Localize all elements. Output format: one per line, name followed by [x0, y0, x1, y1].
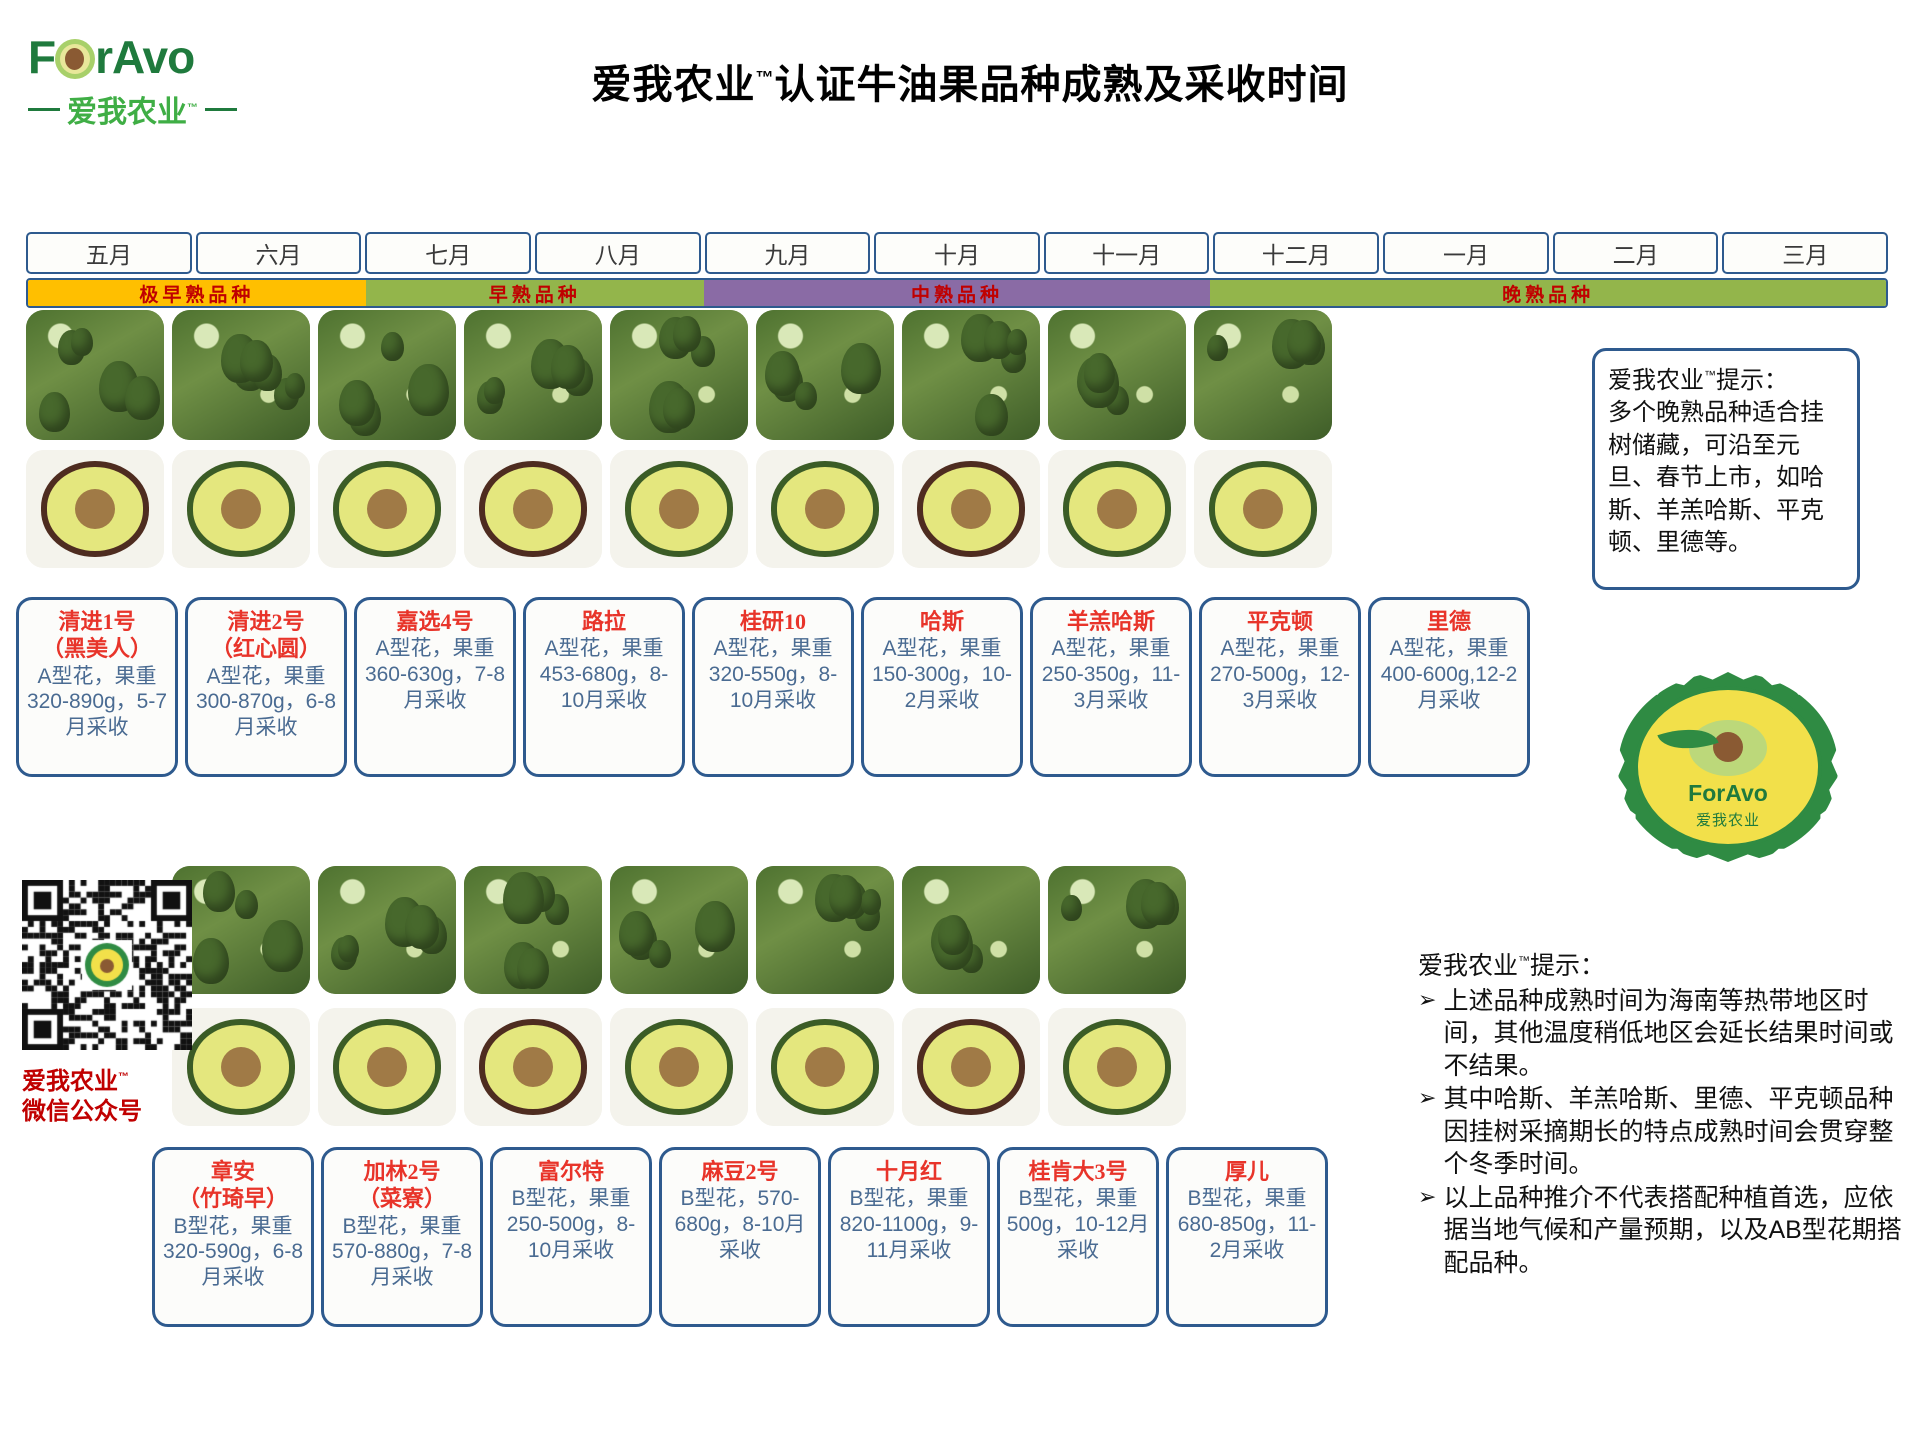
variety-name: 羊羔哈斯: [1039, 609, 1183, 634]
row-a-variety-cards: 清进1号（黑美人）A型花，果重320-890g，5-7月采收清进2号（红心圆）A…: [16, 597, 1530, 777]
avocado-tree-photo: [1048, 310, 1186, 440]
avocado-cut-fruit-photo: [610, 450, 748, 568]
variety-description: A型花，果重300-870g，6-8月采收: [194, 664, 338, 741]
variety-name: 里德: [1377, 609, 1521, 634]
month-cell-8: 十二月: [1213, 232, 1379, 274]
variety-name: 加林2号: [330, 1159, 474, 1184]
avocado-tree-photo: [756, 310, 894, 440]
variety-description: A型花，果重360-630g，7-8月采收: [363, 636, 507, 713]
season-band-3: 中熟品种: [704, 280, 1211, 306]
logo-chinese-name: 爱我农业™: [67, 87, 198, 131]
row-b-variety-cards: 章安（竹琦早）B型花，果重320-590g，6-8月采收加林2号（菜寮）B型花，…: [152, 1147, 1328, 1327]
row-a-cut-photo-strip: [26, 450, 1332, 568]
variety-name: 十月红: [837, 1159, 981, 1184]
variety-name: 桂肯大3号: [1006, 1159, 1150, 1184]
avocado-cut-fruit-photo: [1048, 450, 1186, 568]
variety-card[interactable]: 加林2号（菜寮）B型花，果重570-880g，7-8月采收: [321, 1147, 483, 1327]
tip-box-late-varieties: 爱我农业™提示： 多个晚熟品种适合挂树储藏，可沿至元旦、春节上市，如哈斯、羊羔哈…: [1592, 348, 1860, 590]
row-b-cut-photo-strip: [172, 1008, 1186, 1126]
avocado-tree-photo: [172, 866, 310, 994]
variety-description: A型花，果重270-500g，12-3月采收: [1208, 636, 1352, 713]
variety-card[interactable]: 十月红B型花，果重820-1100g，9-11月采收: [828, 1147, 990, 1327]
bottom-tips-block: 爱我农业™提示： ➢上述品种成熟时间为海南等热带地区时间，其他温度稍低地区会延长…: [1418, 950, 1916, 1280]
tip-bullet-text: 其中哈斯、羊羔哈斯、里德、平克顿品种因挂树采摘期长的特点成熟时间会贯穿整个冬季时…: [1443, 1083, 1916, 1181]
variety-description: A型花，果重400-600g,12-2月采收: [1377, 636, 1521, 713]
variety-name: 清进1号: [25, 609, 169, 634]
variety-card[interactable]: 哈斯A型花，果重150-300g，10-2月采收: [861, 597, 1023, 777]
logo-letters-rest: rAvo: [95, 31, 194, 83]
tip-box-body: 多个晚熟品种适合挂树储藏，可沿至元旦、春节上市，如哈斯、羊羔哈斯、平克顿、里德等…: [1608, 397, 1844, 559]
row-b-tree-photo-strip: [172, 866, 1186, 994]
month-cell-7: 十一月: [1044, 232, 1210, 274]
qr-caption: 爱我农业™ 微信公众号: [22, 1067, 192, 1127]
variety-alias: （菜寮）: [330, 1186, 474, 1211]
wechat-qr-block: 爱我农业™ 微信公众号: [22, 880, 192, 1127]
variety-name: 章安: [161, 1159, 305, 1184]
month-cell-4: 八月: [535, 232, 701, 274]
avocado-tree-photo: [464, 866, 602, 994]
variety-description: A型花，果重250-350g，11-3月采收: [1039, 636, 1183, 713]
variety-alias: （黑美人）: [25, 636, 169, 661]
avocado-tree-photo: [610, 866, 748, 994]
variety-card[interactable]: 路拉A型花，果重453-680g，8-10月采收: [523, 597, 685, 777]
variety-name: 嘉选4号: [363, 609, 507, 634]
season-band-row: 极早熟品种早熟品种中熟品种晚熟品种: [26, 278, 1888, 308]
bullet-arrow-icon: ➢: [1418, 1083, 1436, 1181]
tip-bullet-item: ➢以上品种推介不代表搭配种植首选，应依据当地气候和产量预期，以及AB型花期搭配品…: [1418, 1182, 1916, 1280]
variety-name: 桂研10: [701, 609, 845, 634]
month-cell-10: 二月: [1553, 232, 1719, 274]
avocado-tree-photo: [26, 310, 164, 440]
avocado-tree-photo: [902, 310, 1040, 440]
bottom-tips-heading: 爱我农业™提示：: [1418, 950, 1916, 983]
variety-description: B型花，果重820-1100g，9-11月采收: [837, 1186, 981, 1263]
badge-inner: ForAvo 爱我农业: [1634, 686, 1822, 848]
avocado-tree-photo: [1048, 866, 1186, 994]
month-cell-1: 五月: [26, 232, 192, 274]
variety-name: 平克顿: [1208, 609, 1352, 634]
variety-name: 哈斯: [870, 609, 1014, 634]
tip-bullet-item: ➢上述品种成熟时间为海南等热带地区时间，其他温度稍低地区会延长结果时间或不结果。: [1418, 985, 1916, 1083]
avocado-tree-photo: [172, 310, 310, 440]
tip-bullet-text: 以上品种推介不代表搭配种植首选，应依据当地气候和产量预期，以及AB型花期搭配品种…: [1443, 1182, 1916, 1280]
tip-box-heading: 爱我农业™提示：: [1608, 365, 1844, 397]
brand-logo: FrAvo 爱我农业™: [28, 34, 278, 144]
season-band-4: 晚熟品种: [1210, 280, 1886, 306]
variety-description: A型花，果重150-300g，10-2月采收: [870, 636, 1014, 713]
tip-bullet-item: ➢其中哈斯、羊羔哈斯、里德、平克顿品种因挂树采摘期长的特点成熟时间会贯穿整个冬季…: [1418, 1083, 1916, 1181]
variety-description: B型花，果重500g，10-12月采收: [1006, 1186, 1150, 1263]
bottom-tips-list: ➢上述品种成熟时间为海南等热带地区时间，其他温度稍低地区会延长结果时间或不结果。…: [1418, 985, 1916, 1280]
variety-card[interactable]: 里德A型花，果重400-600g,12-2月采收: [1368, 597, 1530, 777]
variety-name: 富尔特: [499, 1159, 643, 1184]
month-cell-5: 九月: [705, 232, 871, 274]
badge-subtitle: 爱我农业: [1696, 809, 1760, 830]
avocado-cut-fruit-photo: [1048, 1008, 1186, 1126]
variety-card[interactable]: 桂研10A型花，果重320-550g，8-10月采收: [692, 597, 854, 777]
bullet-arrow-icon: ➢: [1418, 985, 1436, 1083]
variety-name: 清进2号: [194, 609, 338, 634]
variety-card[interactable]: 嘉选4号A型花，果重360-630g，7-8月采收: [354, 597, 516, 777]
logo-rule-right: [205, 108, 237, 111]
avocado-cut-fruit-photo: [318, 1008, 456, 1126]
avocado-tree-photo: [318, 866, 456, 994]
variety-description: B型花，570-680g，8-10月采收: [668, 1186, 812, 1263]
variety-description: B型花，果重320-590g，6-8月采收: [161, 1214, 305, 1291]
badge-name: ForAvo: [1688, 780, 1768, 807]
page-title: 爱我农业™认证牛油果品种成熟及采收时间: [420, 52, 1520, 110]
avocado-tree-photo: [902, 866, 1040, 994]
variety-card[interactable]: 章安（竹琦早）B型花，果重320-590g，6-8月采收: [152, 1147, 314, 1327]
variety-name: 麻豆2号: [668, 1159, 812, 1184]
badge-avocado-pit-icon: [1713, 732, 1743, 762]
avocado-cut-fruit-photo: [172, 1008, 310, 1126]
month-header-row: 五月六月七月八月九月十月十一月十二月一月二月三月: [26, 232, 1888, 274]
tip-bullet-text: 上述品种成熟时间为海南等热带地区时间，其他温度稍低地区会延长结果时间或不结果。: [1443, 985, 1916, 1083]
avocado-cut-fruit-photo: [610, 1008, 748, 1126]
variety-card[interactable]: 麻豆2号B型花，570-680g，8-10月采收: [659, 1147, 821, 1327]
timeline: 五月六月七月八月九月十月十一月十二月一月二月三月 极早熟品种早熟品种中熟品种晚熟…: [26, 232, 1888, 308]
variety-card[interactable]: 桂肯大3号B型花，果重500g，10-12月采收: [997, 1147, 1159, 1327]
logo-subtitle: 爱我农业™: [28, 87, 278, 131]
avocado-tree-photo: [756, 866, 894, 994]
avocado-cut-fruit-photo: [318, 450, 456, 568]
avocado-o-icon: [55, 39, 95, 79]
avocado-tree-photo: [1194, 310, 1332, 440]
variety-card[interactable]: 清进1号（黑美人）A型花，果重320-890g，5-7月采收: [16, 597, 178, 777]
avocado-tree-photo: [464, 310, 602, 440]
avocado-cut-fruit-photo: [1194, 450, 1332, 568]
avocado-cut-fruit-photo: [756, 1008, 894, 1126]
logo-wordmark: FrAvo: [28, 34, 278, 80]
avocado-tree-photo: [318, 310, 456, 440]
variety-description: B型花，果重680-850g，11-2月采收: [1175, 1186, 1319, 1263]
avocado-cut-fruit-photo: [464, 1008, 602, 1126]
variety-description: A型花，果重320-890g，5-7月采收: [25, 664, 169, 741]
variety-description: B型花，果重250-500g，8-10月采收: [499, 1186, 643, 1263]
month-cell-9: 一月: [1383, 232, 1549, 274]
avocado-tree-photo: [610, 310, 748, 440]
variety-description: A型花，果重320-550g，8-10月采收: [701, 636, 845, 713]
variety-card[interactable]: 清进2号（红心圆）A型花，果重300-870g，6-8月采收: [185, 597, 347, 777]
avocado-cut-fruit-photo: [26, 450, 164, 568]
variety-name: 厚儿: [1175, 1159, 1319, 1184]
variety-card[interactable]: 厚儿B型花，果重680-850g，11-2月采收: [1166, 1147, 1328, 1327]
month-cell-11: 三月: [1722, 232, 1888, 274]
variety-card[interactable]: 富尔特B型花，果重250-500g，8-10月采收: [490, 1147, 652, 1327]
season-band-2: 早熟品种: [366, 280, 704, 306]
month-cell-3: 七月: [365, 232, 531, 274]
avocado-cut-fruit-photo: [902, 450, 1040, 568]
foravo-certification-badge: ForAvo 爱我农业: [1618, 672, 1838, 862]
variety-description: A型花，果重453-680g，8-10月采收: [532, 636, 676, 713]
variety-card[interactable]: 羊羔哈斯A型花，果重250-350g，11-3月采收: [1030, 597, 1192, 777]
avocado-cut-fruit-photo: [902, 1008, 1040, 1126]
logo-rule-left: [28, 108, 60, 111]
variety-name: 路拉: [532, 609, 676, 634]
qr-code-image: [22, 880, 192, 1050]
logo-letter-f: F: [28, 31, 55, 83]
variety-card[interactable]: 平克顿A型花，果重270-500g，12-3月采收: [1199, 597, 1361, 777]
season-band-1: 极早熟品种: [28, 280, 366, 306]
month-cell-2: 六月: [196, 232, 362, 274]
variety-description: B型花，果重570-880g，7-8月采收: [330, 1214, 474, 1291]
variety-alias: （竹琦早）: [161, 1186, 305, 1211]
row-a-tree-photo-strip: [26, 310, 1332, 440]
avocado-cut-fruit-photo: [464, 450, 602, 568]
bullet-arrow-icon: ➢: [1418, 1182, 1436, 1280]
variety-alias: （红心圆）: [194, 636, 338, 661]
avocado-cut-fruit-photo: [172, 450, 310, 568]
avocado-cut-fruit-photo: [756, 450, 894, 568]
month-cell-6: 十月: [874, 232, 1040, 274]
